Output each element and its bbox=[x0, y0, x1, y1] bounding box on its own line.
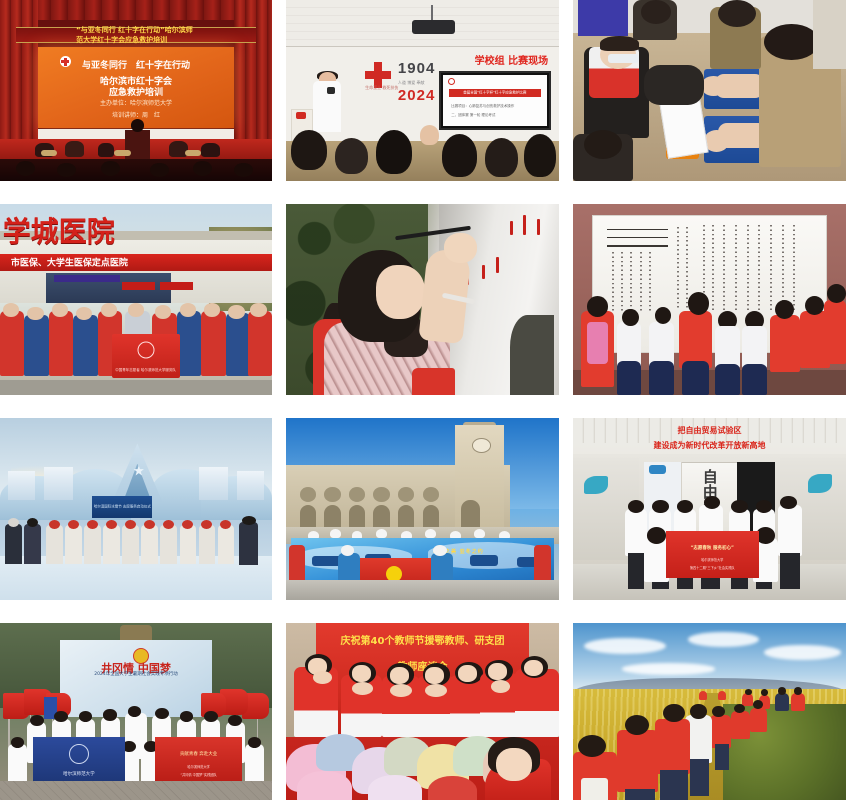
audience-head-5 bbox=[442, 134, 477, 177]
oculus-2 bbox=[324, 487, 340, 502]
oculus-3 bbox=[349, 487, 365, 502]
year-top: 1904 bbox=[398, 60, 435, 77]
photo-tile-2[interactable]: 1904 人道 博爱 奉献 2024 生命至上 救死扶伤 学校组 比赛现场 首届… bbox=[286, 0, 559, 181]
trainee-head-olive bbox=[718, 0, 756, 27]
photo-tile-11[interactable]: 庆祝第40个教师节援鄂教师、研支团 教师座谈会 哈尔滨师范大学 · 研支团 20… bbox=[286, 623, 559, 800]
volunteer-coat-7 bbox=[160, 525, 176, 563]
white-safety-helmet-2 bbox=[330, 529, 341, 538]
volunteer-hat-4 bbox=[106, 520, 117, 529]
volunteer-3 bbox=[49, 311, 73, 376]
student-pants-1 bbox=[628, 553, 644, 589]
walker-legs-white bbox=[690, 759, 709, 796]
audience-head-5 bbox=[193, 161, 212, 175]
text-column-2 bbox=[621, 252, 623, 312]
audience-head-4 bbox=[150, 163, 169, 177]
volunteer-hat-1 bbox=[49, 520, 60, 529]
audience-head-1 bbox=[16, 161, 35, 175]
volunteer-coat-1 bbox=[46, 525, 62, 563]
cloud-3 bbox=[764, 645, 840, 660]
text-column-14 bbox=[770, 225, 772, 312]
volunteer-coat-8 bbox=[180, 525, 196, 563]
student-head-1 bbox=[628, 500, 644, 513]
student-skirt-3 bbox=[682, 361, 709, 395]
field-walk-scene bbox=[573, 623, 846, 800]
volunteer-head-2 bbox=[27, 307, 43, 320]
volunteer-2 bbox=[24, 315, 48, 376]
backdrop-line-1: 庆祝第40个教师节援鄂教师、研支团 bbox=[341, 632, 505, 647]
volunteer-coat-3 bbox=[84, 525, 100, 563]
audience-head-6 bbox=[485, 138, 518, 178]
slide-logo-icon bbox=[448, 78, 455, 85]
audience-head-4 bbox=[420, 125, 439, 145]
foreground-person-face bbox=[496, 748, 531, 781]
student-head-1 bbox=[30, 715, 44, 726]
walker-3 bbox=[742, 693, 753, 706]
red-inscription-4 bbox=[496, 257, 499, 273]
text-column-15 bbox=[782, 225, 784, 312]
volunteer-coat-9 bbox=[199, 525, 215, 563]
student-head-6 bbox=[756, 500, 772, 513]
volunteer-9 bbox=[201, 311, 225, 376]
mannequin-1 bbox=[41, 150, 57, 155]
student-pants-7 bbox=[780, 553, 799, 589]
person-face-2 bbox=[352, 665, 371, 682]
white-safety-helmet-6 bbox=[425, 529, 436, 538]
red-banner-line-2: 哈尔滨师范大学 bbox=[187, 764, 209, 769]
volunteer-head-7 bbox=[155, 305, 171, 318]
audience-head-1 bbox=[291, 130, 326, 170]
floodlight-tower-2 bbox=[44, 467, 74, 500]
volunteer-group-flag: 中国青年志愿者 哈尔滨师范大学服务队 bbox=[112, 334, 180, 378]
red-inscription-5 bbox=[482, 265, 485, 279]
heart-hand-gesture-3 bbox=[390, 684, 412, 697]
red-team-banner: 贡献青春 奔赴大业 哈尔滨师范大学 “井冈情 中国梦”实践团队 bbox=[155, 737, 242, 785]
red-cross-icon bbox=[365, 62, 391, 88]
photo-tile-7[interactable]: 哈尔滨国际冰雪节 志愿服务启动仪式 bbox=[0, 418, 272, 600]
face-profile bbox=[376, 265, 425, 318]
paved-ground bbox=[0, 380, 272, 395]
banner-line-2: 哈尔滨师范大学 bbox=[701, 557, 723, 562]
white-safety-helmet-8 bbox=[474, 529, 485, 538]
volunteer-10 bbox=[226, 313, 250, 376]
flower-bouquet-9 bbox=[368, 775, 423, 800]
ceiling-projector-icon bbox=[412, 20, 456, 34]
heart-hand-gesture-4 bbox=[425, 684, 447, 697]
person-face-6 bbox=[488, 663, 507, 680]
text-column-7 bbox=[686, 227, 688, 308]
student-skirt-2 bbox=[649, 361, 674, 395]
volunteer-hat-5 bbox=[125, 520, 136, 529]
slide-title: 首届全国“红十字杯”红十字应急救护比赛 bbox=[463, 90, 526, 95]
text-column-13 bbox=[758, 225, 760, 312]
photo-tile-1[interactable]: “与亚冬同行 红十字在行动”哈尔滨师范大学红十字会应急救护培训 与亚冬同行 红十… bbox=[0, 0, 272, 181]
oculus-5 bbox=[398, 487, 414, 502]
blue-panel bbox=[578, 0, 627, 36]
face-mask bbox=[608, 54, 638, 63]
text-column-16 bbox=[793, 225, 795, 312]
stage-backdrop: 哈尔滨国际冰雪节 志愿服务启动仪式 bbox=[92, 496, 152, 518]
year-caption: 人道 博爱 奉献 bbox=[398, 80, 425, 86]
walker-8 bbox=[731, 711, 750, 739]
red-inscription-3 bbox=[510, 221, 513, 235]
photo-tile-5[interactable] bbox=[286, 204, 559, 395]
trainee-2 bbox=[65, 141, 84, 157]
walker-9 bbox=[710, 715, 732, 748]
hand bbox=[444, 233, 477, 264]
photo-tile-4[interactable]: 学城医院 市医保、大学生医保定点医院 bbox=[0, 204, 272, 395]
volunteer-8 bbox=[177, 311, 201, 376]
microphone-icon bbox=[327, 87, 335, 94]
banner-headline: “志愿春秋 服务初心” bbox=[690, 545, 733, 551]
student-head-1 bbox=[587, 296, 609, 317]
cpr-training-scene bbox=[573, 0, 846, 181]
oculus-4 bbox=[373, 487, 389, 502]
student-head-4 bbox=[688, 292, 710, 315]
small-banner-1 bbox=[122, 282, 155, 290]
team-banner: “志愿春秋 服务初心” 哈尔滨师范大学 第四十二期“三下乡”社会实践队 bbox=[666, 531, 759, 578]
kneeling-head-right bbox=[248, 737, 262, 748]
screen-line-4: 培训讲师：周 红 bbox=[112, 110, 160, 119]
slide: 首届全国“红十字杯”红十字应急救护比赛 比赛项目：心肺复苏与创伤救护技术操作 二… bbox=[443, 75, 547, 127]
text-column-6 bbox=[677, 227, 679, 308]
volunteer-1 bbox=[0, 311, 24, 376]
wall-text-line-2: 建设成为新时代改革开放新高地 bbox=[654, 440, 766, 451]
text-column-4 bbox=[640, 252, 642, 312]
walker-foreground-2 bbox=[617, 730, 658, 793]
red-inscription-2 bbox=[523, 215, 526, 235]
jinggang-event-scene: 井冈情 中国梦 2024年全国大学生暑期社会实践专项行动 bbox=[0, 623, 272, 800]
flower-bouquet-10 bbox=[428, 776, 477, 800]
projection-screen: 与亚冬同行 红十字在行动 哈尔滨市红十字会 应急救护培训 主办单位：哈尔滨师范大… bbox=[38, 47, 234, 128]
clock-face-icon bbox=[472, 438, 491, 453]
student-head-8 bbox=[204, 711, 218, 722]
student-white-4 bbox=[742, 326, 767, 368]
attendee-1 bbox=[5, 524, 21, 564]
flag-caption: 中国青年志愿者 哈尔滨师范大学服务队 bbox=[115, 368, 176, 373]
auditorium-scene: “与亚冬同行 红十字在行动”哈尔滨师范大学红十字会应急救护培训 与亚冬同行 红十… bbox=[0, 0, 272, 181]
volunteer-head-5 bbox=[101, 303, 117, 316]
volunteer-head-6 bbox=[128, 303, 144, 316]
right-curtain bbox=[234, 0, 272, 141]
arch-2 bbox=[324, 505, 340, 529]
text-column-12 bbox=[747, 225, 749, 312]
student-head-2 bbox=[652, 500, 668, 513]
carried-sheet bbox=[581, 778, 608, 800]
screen-line-3: 主办单位：哈尔滨师范大学 bbox=[100, 98, 172, 107]
arch-6 bbox=[423, 505, 439, 529]
student-skirt-1 bbox=[617, 361, 642, 395]
ceiling-band bbox=[0, 0, 272, 20]
peace-hand-gesture bbox=[491, 680, 510, 693]
walker-head-8 bbox=[734, 704, 745, 713]
desk-row bbox=[286, 141, 559, 181]
stage-text: 哈尔滨国际冰雪节 志愿服务启动仪式 bbox=[94, 504, 151, 511]
small-banner-2 bbox=[160, 282, 193, 290]
volunteer-head-9 bbox=[204, 303, 220, 316]
banner-line-3: 第四十二期“三下乡”社会实践队 bbox=[690, 565, 735, 570]
red-heading: 学校组 比赛现场 bbox=[475, 52, 548, 67]
volunteer-coat-10 bbox=[218, 525, 234, 563]
overhead-banner-text: “与亚冬同行 红十字在行动”哈尔滨师范大学红十字会应急救护培训 bbox=[76, 25, 196, 45]
red-inscription-1 bbox=[537, 219, 540, 235]
white-safety-helmet-4 bbox=[376, 529, 387, 538]
student-head-3 bbox=[677, 500, 693, 513]
text-column-11 bbox=[735, 225, 737, 312]
slide-title-bar: 首届全国“红十字杯”红十字应急救护比赛 bbox=[449, 89, 540, 98]
student-vest-5 bbox=[824, 300, 846, 365]
volunteer-head-3 bbox=[52, 303, 68, 316]
audience-head-7 bbox=[524, 134, 557, 177]
screen-logo-icon bbox=[649, 465, 665, 474]
photo-tile-6[interactable] bbox=[573, 204, 846, 395]
student-white-3 bbox=[715, 326, 740, 368]
walker-head-3 bbox=[745, 689, 752, 695]
audience-head-3 bbox=[376, 130, 411, 173]
memorial-wall-scene bbox=[573, 204, 846, 395]
text-column-3 bbox=[630, 252, 632, 312]
kneeling-student-left bbox=[8, 744, 27, 784]
red-volunteer-vest-front bbox=[412, 368, 456, 395]
walker-head-white bbox=[690, 704, 706, 719]
audience-silhouettes bbox=[0, 159, 272, 181]
arch-4 bbox=[373, 505, 389, 529]
wall-side-caption: 生命至上 救死扶伤 bbox=[365, 85, 398, 91]
overhead-banner: “与亚冬同行 红十字在行动”哈尔滨师范大学红十字会应急救护培训 bbox=[16, 27, 255, 43]
pink-backpack bbox=[587, 322, 609, 364]
oculus-1 bbox=[300, 487, 316, 502]
text-column-10 bbox=[723, 225, 725, 312]
trainee-3 bbox=[98, 143, 114, 157]
screen-headline: 与亚冬同行 红十字在行动 bbox=[82, 58, 190, 71]
student-head-2 bbox=[622, 309, 638, 326]
volunteer-hat-6 bbox=[144, 520, 155, 529]
volunteer-coat-2 bbox=[65, 525, 81, 563]
walker-5-dark bbox=[775, 693, 789, 711]
floodlight-tower-4 bbox=[237, 471, 264, 500]
student-head-7 bbox=[780, 496, 796, 509]
student-vest-3 bbox=[770, 315, 800, 372]
heart-in-circle-icon bbox=[137, 341, 154, 358]
volunteer-head-10 bbox=[228, 305, 244, 318]
volunteer-11 bbox=[248, 311, 272, 376]
student-vest-2 bbox=[679, 311, 712, 368]
kneeling-student-right bbox=[245, 744, 264, 784]
panel-heading-rule-1 bbox=[607, 229, 668, 231]
attendee-2 bbox=[24, 524, 40, 564]
monument-painting-scene bbox=[286, 204, 559, 395]
walker-legs-9 bbox=[715, 744, 729, 770]
presenter-head bbox=[131, 119, 145, 132]
text-column-5 bbox=[649, 252, 651, 312]
photo-tile-10[interactable]: 井冈情 中国梦 2024年全国大学生暑期社会实践专项行动 bbox=[0, 623, 272, 800]
attendee-3 bbox=[239, 522, 258, 566]
student-head-5 bbox=[731, 500, 747, 513]
student-skirt-5 bbox=[742, 364, 767, 395]
student-head-9 bbox=[228, 715, 242, 726]
student-head-4 bbox=[103, 709, 117, 720]
blue-university-banner: 哈尔滨师范大学 bbox=[33, 737, 125, 785]
ice-festival-scene: 哈尔滨国际冰雪节 志愿服务启动仪式 bbox=[0, 418, 272, 600]
arch-tower bbox=[461, 500, 480, 529]
red-cross-icon bbox=[60, 56, 71, 67]
entrance-banner bbox=[54, 275, 119, 283]
mural-skier-3 bbox=[470, 555, 499, 566]
distant-walker-2 bbox=[718, 691, 726, 700]
right-logo-mark-icon bbox=[808, 474, 833, 492]
heart-hand-gesture-1 bbox=[313, 671, 332, 684]
roof-sign: 学城医院 bbox=[3, 210, 115, 250]
hospital-red-banner: 市医保、大学生医保定点医院 bbox=[0, 254, 272, 271]
volunteer-4 bbox=[73, 315, 97, 376]
photo-gallery-grid: “与亚冬同行 红十字在行动”哈尔滨师范大学红十字会应急救护培训 与亚冬同行 红十… bbox=[0, 0, 846, 800]
teachers-day-scene: 庆祝第40个教师节援鄂教师、研支团 教师座谈会 哈尔滨师范大学 · 研支团 20… bbox=[286, 623, 559, 800]
mural-plaza-scene: 冰雪之美 亚冬之约 bbox=[286, 418, 559, 600]
walker-foreground-1 bbox=[655, 719, 690, 774]
volunteer-hat-3 bbox=[87, 520, 98, 529]
walker-head-6 bbox=[794, 687, 802, 694]
walker-head-fg-3 bbox=[578, 735, 605, 757]
year-bottom: 2024 bbox=[398, 87, 435, 104]
blue-banner-caption: 哈尔滨师范大学 bbox=[63, 771, 95, 777]
person-face-3 bbox=[390, 667, 409, 684]
instructor-arm bbox=[644, 65, 704, 105]
student-head-5 bbox=[128, 706, 142, 717]
volunteer-hat-2 bbox=[68, 520, 79, 529]
photo-tile-12[interactable] bbox=[573, 623, 846, 800]
backdrop-subline: 2024年全国大学生暑期社会实践专项行动 bbox=[94, 671, 177, 677]
lobby-group-scene: 把自由贸易试验区 建设成为新时代改革开放新高地 自由贸易 bbox=[573, 418, 846, 600]
text-column-9 bbox=[712, 225, 714, 312]
audience-head-3 bbox=[101, 161, 120, 175]
volunteer-head-1 bbox=[3, 303, 19, 316]
hospital-red-banner-text: 市医保、大学生医保定点医院 bbox=[11, 256, 128, 269]
red-banner-headline: 贡献青春 奔赴大业 bbox=[180, 751, 217, 757]
red-banner-line-3: “井冈情 中国梦”实践团队 bbox=[180, 772, 216, 777]
slide-line-1: 比赛项目：心肺复苏与创伤救护技术操作 bbox=[451, 103, 514, 111]
poster-cross-icon bbox=[296, 112, 307, 119]
photo-tile-3[interactable] bbox=[573, 0, 846, 181]
screen-line-2: 应急救护培训 bbox=[109, 85, 163, 98]
photo-tile-9[interactable]: 把自由贸易试验区 建设成为新时代改革开放新高地 自由贸易 bbox=[573, 418, 846, 600]
oculus-6 bbox=[423, 487, 439, 502]
student-head-6 bbox=[155, 708, 169, 719]
volunteer-coat-5 bbox=[122, 525, 138, 563]
wall-text-line-1: 把自由贸易试验区 bbox=[678, 425, 742, 436]
audience-head-2 bbox=[335, 138, 368, 174]
volunteer-coat-6 bbox=[141, 525, 157, 563]
person-face-7 bbox=[524, 660, 543, 677]
cloud-4 bbox=[622, 663, 715, 674]
floodlight-tower-1 bbox=[8, 471, 35, 500]
observer-head-1 bbox=[641, 0, 671, 24]
university-seal-icon bbox=[69, 744, 89, 764]
volunteer-head-11 bbox=[250, 303, 266, 316]
person-face-4 bbox=[425, 667, 444, 684]
volunteer-coat-4 bbox=[103, 525, 119, 563]
text-column-1 bbox=[612, 252, 614, 312]
walker-head-5 bbox=[778, 687, 786, 694]
classroom-scene: 1904 人道 博爱 奉献 2024 生命至上 救死扶伤 学校组 比赛现场 首届… bbox=[286, 0, 559, 181]
student-skirt-4 bbox=[715, 364, 740, 395]
walker-7 bbox=[750, 708, 766, 732]
slide-line-2: 二、团体赛 第一轮 理论考试 bbox=[451, 112, 495, 120]
monument-shadow bbox=[510, 315, 554, 395]
student-body-7 bbox=[778, 505, 803, 556]
trainee-head-back bbox=[764, 24, 819, 60]
arch-1 bbox=[300, 505, 316, 529]
paved-plaza bbox=[0, 781, 272, 800]
kneeling-head-right bbox=[756, 527, 775, 543]
arch-5 bbox=[398, 505, 414, 529]
volunteer-hat-7 bbox=[163, 520, 174, 529]
heart-hand-gesture-2 bbox=[352, 682, 374, 695]
mannequin-3 bbox=[185, 150, 201, 155]
plaza-ground bbox=[286, 580, 559, 600]
ground bbox=[573, 370, 846, 395]
presentation-display: 首届全国“红十字杯”红十字应急救护比赛 比赛项目：心肺复苏与创伤救护技术操作 二… bbox=[439, 71, 551, 131]
hospital-group-scene: 学城医院 市医保、大学生医保定点医院 bbox=[0, 204, 272, 395]
panel-heading-rule-3 bbox=[607, 245, 668, 247]
student-head-7 bbox=[775, 300, 794, 319]
left-curtain bbox=[0, 0, 38, 141]
standing-bystander bbox=[813, 0, 846, 69]
volunteer-hat-8 bbox=[182, 520, 193, 529]
cpr-mannequin-head-1 bbox=[701, 76, 726, 96]
walker-head-9 bbox=[712, 706, 724, 717]
kneeling-head-left bbox=[647, 527, 666, 543]
person-face-5 bbox=[458, 665, 477, 682]
flower-bouquet-8 bbox=[297, 771, 352, 800]
arch-3 bbox=[349, 505, 365, 529]
distant-walker-1 bbox=[699, 691, 707, 700]
trainee-5 bbox=[201, 143, 220, 157]
volunteer-head-8 bbox=[180, 303, 196, 316]
walker-legs-fg-2 bbox=[625, 789, 655, 800]
floodlight-tower-3 bbox=[199, 467, 229, 500]
walker-legs-fg-1 bbox=[660, 770, 687, 800]
student-head-8 bbox=[805, 296, 824, 315]
walker-head-4 bbox=[761, 689, 768, 695]
walker-6 bbox=[791, 693, 805, 711]
cloud-2 bbox=[688, 632, 759, 647]
panel-heading-rule-2 bbox=[607, 237, 668, 239]
photo-tile-8[interactable]: 冰雪之美 亚冬之约 bbox=[286, 418, 559, 600]
cloud-1 bbox=[584, 638, 666, 655]
mannequin-2 bbox=[114, 150, 130, 155]
